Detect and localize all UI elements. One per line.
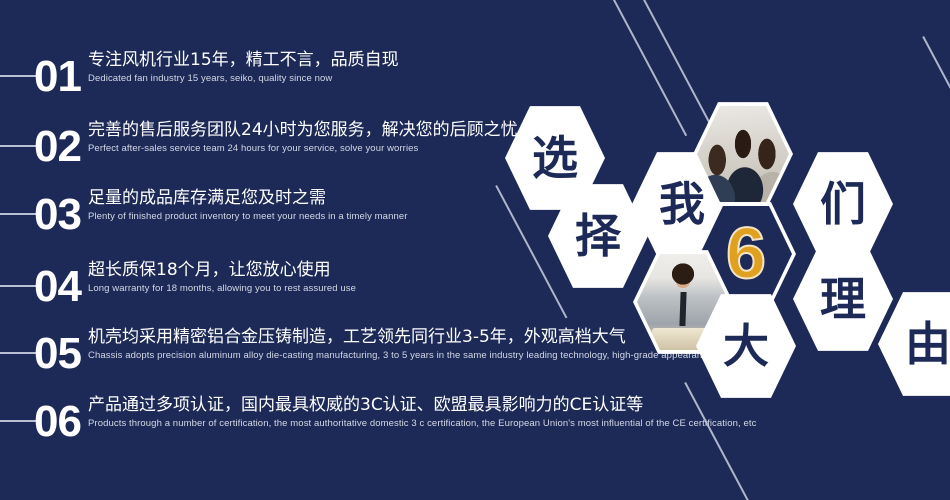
hex-cell-men: 们 [793, 150, 893, 258]
promo-banner: 01 专注风机行业15年，精工不言，品质自现 Dedicated fan ind… [0, 0, 950, 500]
reason-title-cn: 完善的售后服务团队24小时为您服务，解决您的后顾之忧 [88, 119, 518, 141]
reason-dash [0, 213, 38, 215]
reason-title-en: Perfect after-sales service team 24 hour… [88, 142, 518, 155]
necktie-shape [680, 292, 688, 326]
reason-text-block: 足量的成品库存满足您及时之需 Plenty of finished produc… [88, 187, 407, 223]
reason-text-block: 超长质保18个月，让您放心使用 Long warranty for 18 mon… [88, 259, 356, 295]
team-photo-image [697, 104, 789, 204]
reason-dash [0, 352, 38, 354]
reason-title-cn: 足量的成品库存满足您及时之需 [88, 187, 407, 209]
reason-title-en: Dedicated fan industry 15 years, seiko, … [88, 72, 399, 85]
hex-label: 大 [723, 323, 769, 369]
reason-number: 03 [34, 193, 81, 237]
hex-cell-team-photo [693, 100, 793, 208]
reason-text-block: 完善的售后服务团队24小时为您服务，解决您的后顾之忧 Perfect after… [88, 119, 518, 155]
hex-label: 择 [575, 213, 621, 259]
reason-number: 04 [34, 265, 81, 309]
diagonal-line-5 [923, 36, 950, 99]
reason-dash [0, 75, 38, 77]
reason-number: 05 [34, 332, 81, 376]
reason-title-en: Products through a number of certificati… [88, 417, 756, 430]
reason-number: 06 [34, 400, 81, 444]
reason-text-block: 专注风机行业15年，精工不言，品质自现 Dedicated fan indust… [88, 49, 399, 85]
reason-title-cn: 产品通过多项认证，国内最具权威的3C认证、欧盟最具影响力的CE认证等 [88, 394, 756, 416]
reason-number: 01 [34, 55, 81, 99]
hex-label: 选 [532, 135, 578, 181]
hex-label: 理 [820, 276, 866, 322]
hex-label: 们 [820, 181, 866, 227]
reason-dash [0, 420, 38, 422]
hex-cell-you: 由 [878, 290, 950, 398]
reason-title-en: Long warranty for 18 months, allowing yo… [88, 282, 356, 295]
reason-dash [0, 145, 38, 147]
reason-text-block: 产品通过多项认证，国内最具权威的3C认证、欧盟最具影响力的CE认证等 Produ… [88, 394, 756, 430]
reason-number: 02 [34, 125, 81, 169]
hex-label: 由 [905, 321, 950, 367]
reason-title-cn: 专注风机行业15年，精工不言，品质自现 [88, 49, 399, 71]
reason-dash [0, 285, 38, 287]
reason-title-cn: 超长质保18个月，让您放心使用 [88, 259, 356, 281]
reason-title-en: Plenty of finished product inventory to … [88, 210, 407, 223]
hex-cell-da: 大 [696, 292, 796, 400]
